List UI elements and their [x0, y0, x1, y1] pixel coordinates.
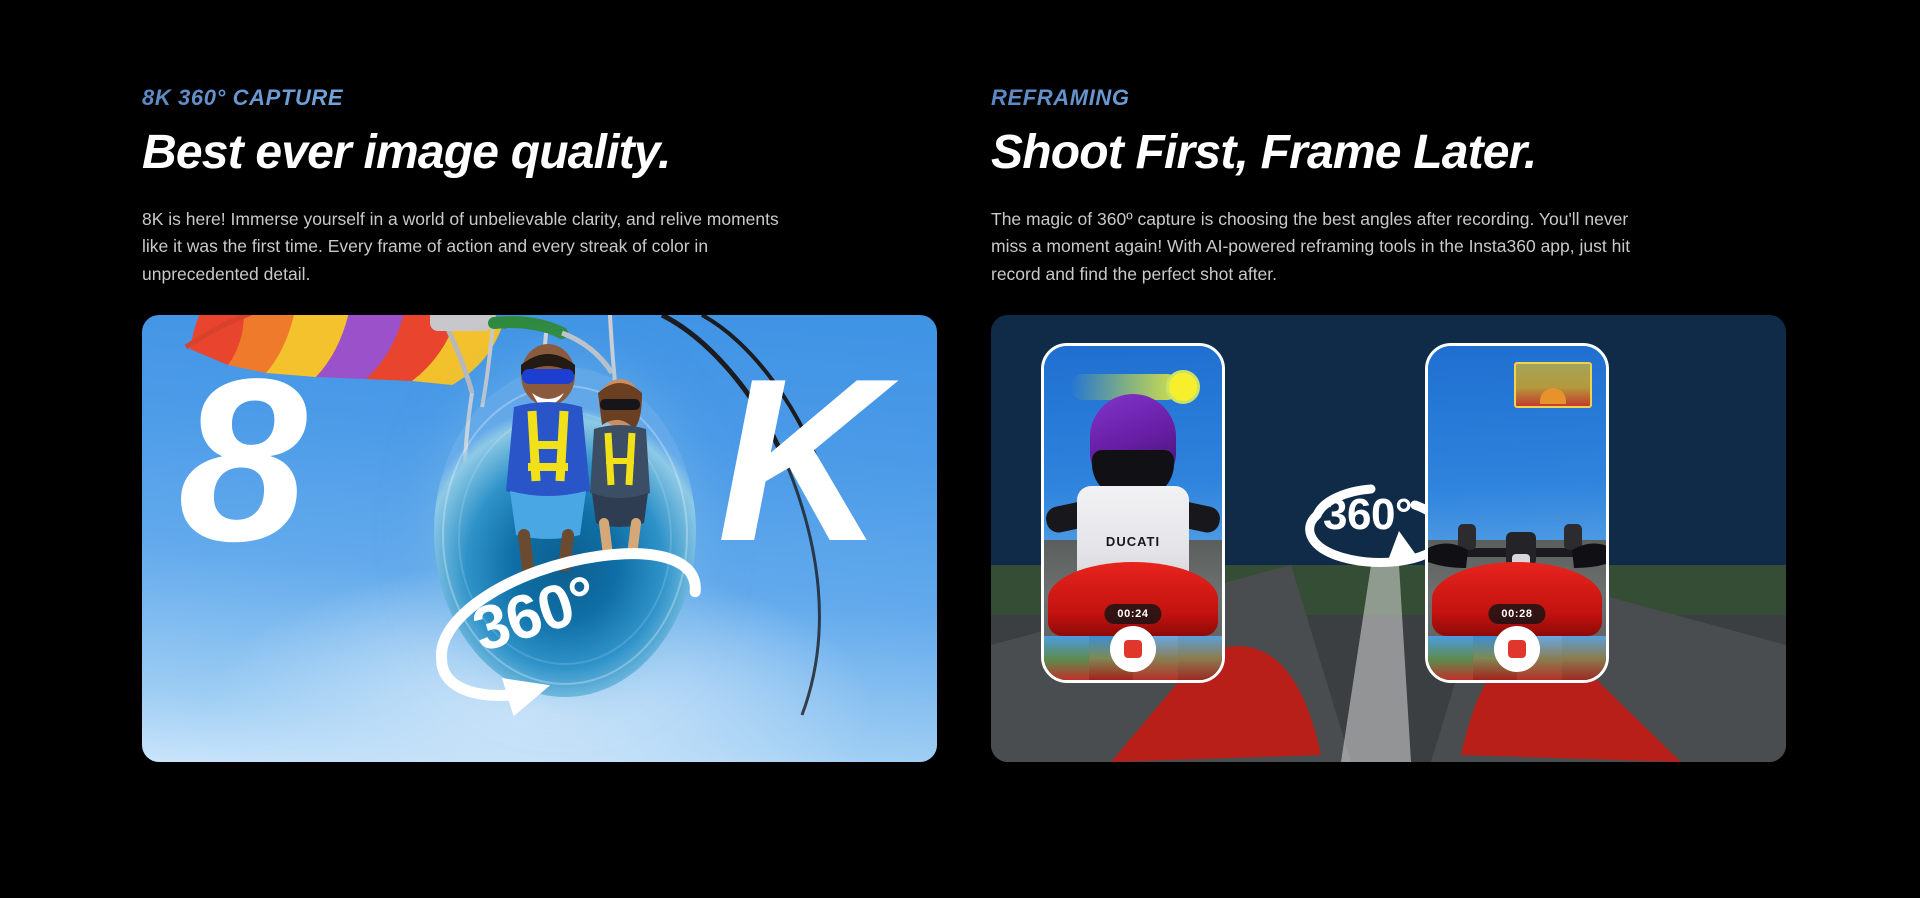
- record-stop-button[interactable]: [1494, 626, 1540, 672]
- headline-capture: Best ever image quality.: [142, 126, 937, 180]
- feature-column-capture: 8K 360° CAPTURE Best ever image quality.…: [142, 86, 937, 898]
- overlay-digit-8: 8: [178, 345, 301, 577]
- jacket-brand-text: DUCATI: [1106, 534, 1160, 549]
- motorcycle-tank: [1432, 562, 1602, 636]
- sun-icon: [1166, 370, 1200, 404]
- motorcycle-tank: [1048, 562, 1218, 636]
- feature-column-reframing: REFRAMING Shoot First, Frame Later. The …: [991, 86, 1786, 898]
- page-root: 8K 360° CAPTURE Best ever image quality.…: [0, 0, 1920, 898]
- overlay-letter-k: K: [717, 345, 879, 577]
- reframe-preview-icon: [1514, 362, 1592, 408]
- record-stop-button[interactable]: [1110, 626, 1156, 672]
- card-tiny-planet[interactable]: 8 K 360°: [142, 315, 937, 762]
- card-reframing[interactable]: DUCATI 00:24: [991, 315, 1786, 762]
- recording-timecode: 00:28: [1488, 604, 1545, 624]
- body-copy-reframing: The magic of 360º capture is choosing th…: [991, 206, 1631, 288]
- eyebrow-capture: 8K 360° CAPTURE: [142, 86, 937, 110]
- phone-handlebar-view[interactable]: 00:28: [1425, 343, 1609, 683]
- filmstrip-thumb[interactable]: [1044, 636, 1089, 680]
- eyebrow-reframing: REFRAMING: [991, 86, 1786, 110]
- filmstrip-thumb[interactable]: [1562, 636, 1607, 680]
- stop-square-icon: [1508, 640, 1526, 658]
- badge-360-label: 360°: [1323, 493, 1412, 537]
- body-copy-capture: 8K is here! Immerse yourself in a world …: [142, 206, 802, 288]
- filmstrip-thumb[interactable]: [1428, 636, 1473, 680]
- feature-columns: 8K 360° CAPTURE Best ever image quality.…: [0, 0, 1920, 898]
- recording-timecode: 00:24: [1104, 604, 1161, 624]
- headline-reframing: Shoot First, Frame Later.: [991, 126, 1786, 180]
- stop-square-icon: [1124, 640, 1142, 658]
- filmstrip-thumb[interactable]: [1178, 636, 1223, 680]
- phone-rider-view[interactable]: DUCATI 00:24: [1041, 343, 1225, 683]
